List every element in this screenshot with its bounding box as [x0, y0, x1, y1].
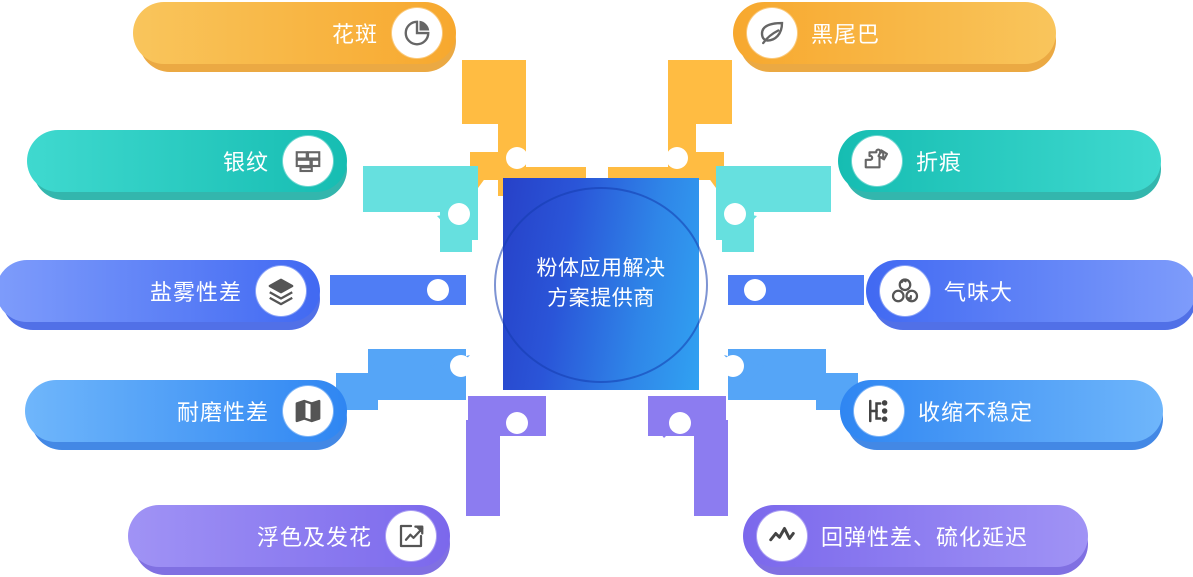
node-huaban[interactable]: 花斑: [133, 2, 456, 64]
pill-body[interactable]: 浮色及发花: [128, 505, 450, 567]
connector-huaban: [462, 60, 586, 196]
leaf-icon: [747, 8, 797, 58]
node-fusejifahua[interactable]: 浮色及发花: [128, 505, 450, 567]
pill-body[interactable]: 银纹: [27, 130, 347, 192]
map-icon: [283, 386, 333, 436]
connector-shousuobuwending: [722, 349, 858, 410]
pill-body[interactable]: 盐雾性差: [0, 260, 320, 322]
sitemap-icon: [854, 386, 904, 436]
node-naimoxingcha[interactable]: 耐磨性差: [25, 380, 347, 442]
pill-body[interactable]: 耐磨性差: [25, 380, 347, 442]
node-zhehen[interactable]: 折痕: [838, 130, 1161, 192]
connector-yinwen: [363, 166, 478, 252]
pill-label: 回弹性差、硫化延迟: [821, 520, 1028, 552]
recycle-icon: [880, 266, 930, 316]
line-chart-icon: [757, 511, 807, 561]
center-node-label: 粉体应用解决 方案提供商: [503, 178, 699, 390]
connector-fusejifahua: [466, 396, 546, 516]
connector-naimoxingcha: [336, 349, 472, 410]
node-shousuobuwending[interactable]: 收缩不稳定: [840, 380, 1163, 442]
node-yanwuxingcha[interactable]: 盐雾性差: [0, 260, 320, 322]
pill-body[interactable]: 花斑: [133, 2, 456, 64]
trending-up-box-icon: [386, 511, 436, 561]
node-qiweida[interactable]: 气味大: [866, 260, 1193, 322]
connector-heiweiba: [608, 60, 732, 196]
pill-body[interactable]: 气味大: [866, 260, 1193, 322]
pill-label: 黑尾巴: [811, 17, 880, 49]
pill-body[interactable]: 折痕: [838, 130, 1161, 192]
node-huitanxingcha[interactable]: 回弹性差、硫化延迟: [743, 505, 1088, 567]
pill-label: 耐磨性差: [177, 395, 269, 427]
brick-wall-icon: [283, 136, 333, 186]
connector-qiweida: [728, 275, 864, 305]
connector-yanwuxingcha: [330, 275, 466, 305]
infographic-diagram: 粉体应用解决 方案提供商 花斑 黑尾巴: [0, 0, 1193, 577]
puzzle-icon: [852, 136, 902, 186]
connector-zhehen: [716, 166, 831, 252]
pill-label: 气味大: [944, 275, 1013, 307]
pill-label: 收缩不稳定: [918, 395, 1033, 427]
pill-label: 银纹: [223, 145, 269, 177]
pie-chart-icon: [392, 8, 442, 58]
pill-body[interactable]: 黑尾巴: [733, 2, 1056, 64]
connector-huitanxingcha: [648, 396, 728, 516]
center-node[interactable]: 粉体应用解决 方案提供商: [503, 178, 699, 390]
layers-icon: [256, 266, 306, 316]
pill-label: 浮色及发花: [257, 520, 372, 552]
node-heiweiba[interactable]: 黑尾巴: [733, 2, 1056, 64]
pill-label: 花斑: [332, 17, 378, 49]
pill-label: 折痕: [916, 145, 962, 177]
node-yinwen[interactable]: 银纹: [27, 130, 347, 192]
pill-label: 盐雾性差: [150, 275, 242, 307]
pill-body[interactable]: 回弹性差、硫化延迟: [743, 505, 1088, 567]
pill-body[interactable]: 收缩不稳定: [840, 380, 1163, 442]
